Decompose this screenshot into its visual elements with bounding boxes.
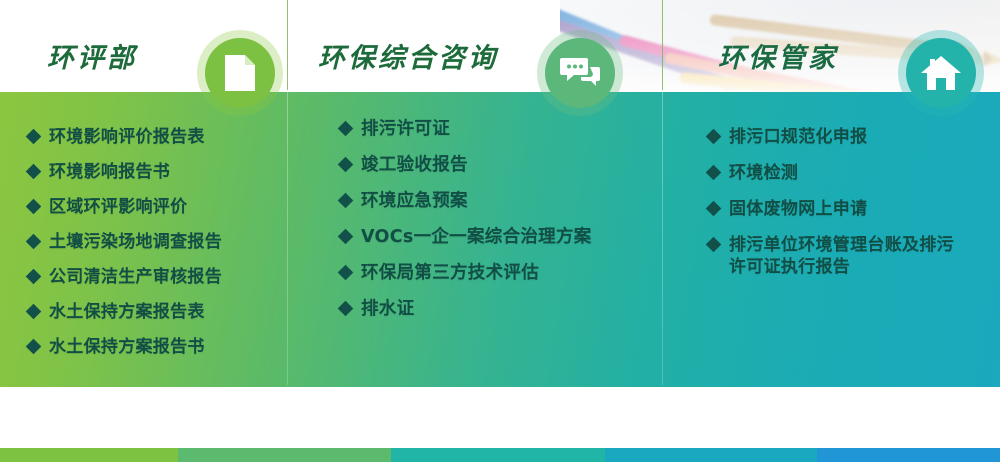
document-icon [223, 53, 257, 93]
list-item-label: 排污口规范化申报 [729, 126, 988, 148]
bottom-block-4 [817, 448, 1000, 462]
list-item-label: 排水证 [361, 298, 640, 320]
column-divider-2 [662, 0, 663, 385]
list-item[interactable]: 环境检测 [708, 162, 988, 184]
diamond-bullet-icon [338, 301, 354, 317]
bottom-block-3 [605, 448, 817, 462]
white-separator [0, 387, 1000, 448]
list-item[interactable]: 公司清洁生产审核报告 [28, 266, 278, 288]
diamond-bullet-icon [26, 234, 42, 250]
diamond-bullet-icon [338, 157, 354, 173]
list-item[interactable]: 环境应急预案 [340, 190, 640, 212]
list-item-label: VOCs一企一案综合治理方案 [361, 226, 640, 248]
list-item-label: 环境影响评价报告表 [49, 126, 278, 148]
list-item-label: 竣工验收报告 [361, 154, 640, 176]
bottom-color-blocks [0, 448, 1000, 462]
list-item-label: 环境应急预案 [361, 190, 640, 212]
list-item-label-line1: 排污单位环境管理台账及排污 [729, 235, 954, 255]
diamond-bullet-icon [706, 165, 722, 181]
diamond-bullet-icon [338, 265, 354, 281]
list-item[interactable]: 排污口规范化申报 [708, 126, 988, 148]
bottom-block-1 [178, 448, 391, 462]
list-item[interactable]: 排污单位环境管理台账及排污 许可证执行报告 [708, 234, 988, 278]
diamond-bullet-icon [338, 121, 354, 137]
list-item[interactable]: 环保局第三方技术评估 [340, 262, 640, 284]
diamond-bullet-icon [706, 201, 722, 217]
diamond-bullet-icon [338, 229, 354, 245]
list-item[interactable]: 土壤污染场地调查报告 [28, 231, 278, 253]
list-item-label: 水土保持方案报告书 [49, 336, 278, 358]
list-item[interactable]: 区域环评影响评价 [28, 196, 278, 218]
diamond-bullet-icon [706, 237, 722, 253]
list-item-label: 水土保持方案报告表 [49, 301, 278, 323]
list-item[interactable]: 排水证 [340, 298, 640, 320]
column-title-environmental-consulting: 环保综合咨询 [318, 36, 498, 75]
diamond-bullet-icon [26, 304, 42, 320]
list-item[interactable]: 环境影响报告书 [28, 161, 278, 183]
bottom-block-2 [391, 448, 605, 462]
list-item[interactable]: 竣工验收报告 [340, 154, 640, 176]
list-eia-department: 环境影响评价报告表 环境影响报告书 区域环评影响评价 土壤污染场地调查报告 公司… [28, 126, 278, 371]
list-item-label: 环保局第三方技术评估 [361, 262, 640, 284]
list-item-label: 排污许可证 [361, 118, 640, 140]
diamond-bullet-icon [26, 129, 42, 145]
list-item-label-wrapped: 排污单位环境管理台账及排污 许可证执行报告 [729, 234, 988, 278]
house-icon [920, 54, 962, 92]
bottom-block-0 [0, 448, 178, 462]
badge-house [898, 30, 984, 116]
list-item[interactable]: 水土保持方案报告表 [28, 301, 278, 323]
column-divider-1 [287, 0, 288, 385]
diamond-bullet-icon [338, 193, 354, 209]
badge-document [197, 30, 283, 116]
list-item-label: 区域环评影响评价 [49, 196, 278, 218]
list-item[interactable]: 排污许可证 [340, 118, 640, 140]
diamond-bullet-icon [26, 199, 42, 215]
list-item-label: 土壤污染场地调查报告 [49, 231, 278, 253]
list-item-label: 公司清洁生产审核报告 [49, 266, 278, 288]
list-item-label: 环境检测 [729, 162, 988, 184]
list-item-label-line2: 许可证执行报告 [729, 256, 988, 278]
list-item-label: 固体废物网上申请 [729, 198, 988, 220]
poster-root: 环评部 环保综合咨询 环保管家 环境 [0, 0, 1000, 462]
list-item[interactable]: 环境影响评价报告表 [28, 126, 278, 148]
badge-chat [537, 30, 623, 116]
list-item[interactable]: 水土保持方案报告书 [28, 336, 278, 358]
list-item[interactable]: VOCs一企一案综合治理方案 [340, 226, 640, 248]
column-title-eia-department: 环评部 [47, 36, 137, 75]
list-environmental-steward: 排污口规范化申报 环境检测 固体废物网上申请 排污单位环境管理台账及排污 许可证… [708, 126, 988, 292]
diamond-bullet-icon [26, 339, 42, 355]
chat-bubbles-icon [560, 56, 600, 90]
diamond-bullet-icon [26, 269, 42, 285]
list-environmental-consulting: 排污许可证 竣工验收报告 环境应急预案 VOCs一企一案综合治理方案 环保局第三… [340, 118, 640, 334]
column-title-environmental-steward: 环保管家 [718, 36, 838, 75]
list-item[interactable]: 固体废物网上申请 [708, 198, 988, 220]
list-item-label: 环境影响报告书 [49, 161, 278, 183]
diamond-bullet-icon [706, 129, 722, 145]
diamond-bullet-icon [26, 164, 42, 180]
